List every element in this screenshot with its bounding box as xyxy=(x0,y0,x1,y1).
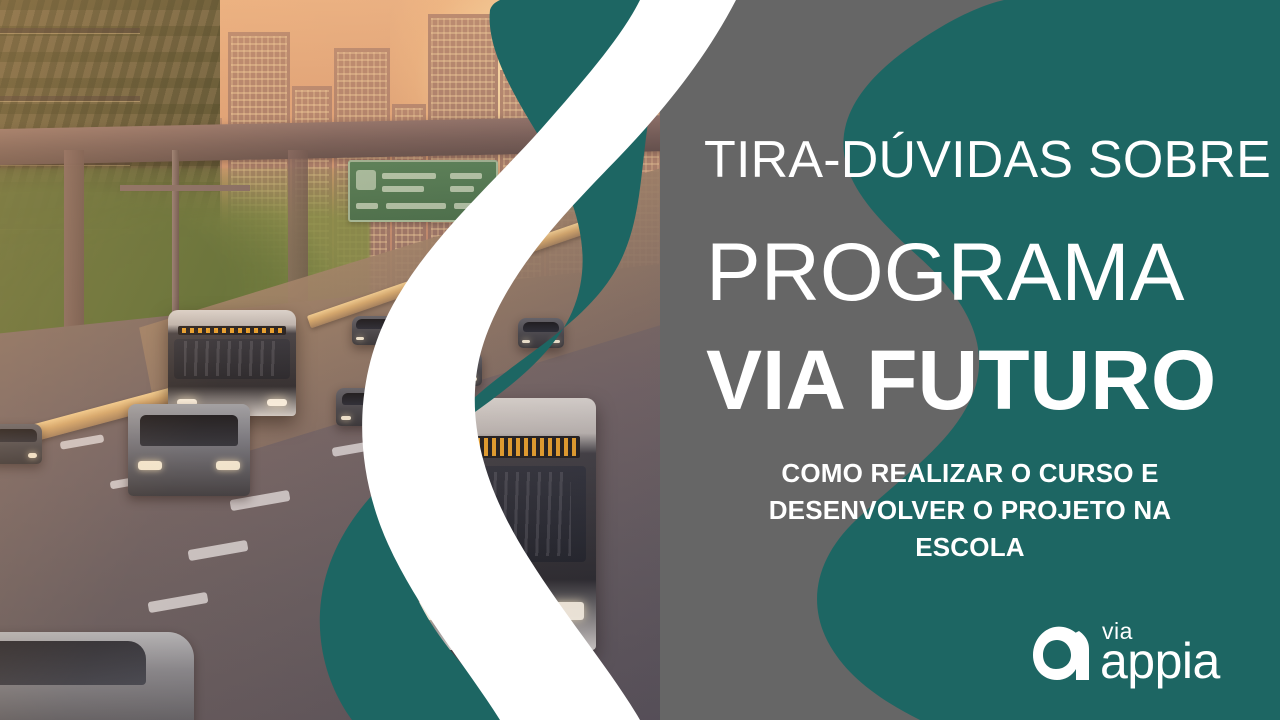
logo-word-appia: appia xyxy=(1100,636,1220,686)
title-line-1: PROGRAMA xyxy=(706,232,1184,314)
via-appia-logo-mark xyxy=(1032,624,1094,682)
presentation-slide: TIRA-DÚVIDAS SOBRE O PROGRAMA VIA FUTURO… xyxy=(0,0,1280,720)
text-block: TIRA-DÚVIDAS SOBRE O PROGRAMA VIA FUTURO… xyxy=(690,0,1250,720)
kicker-text: TIRA-DÚVIDAS SOBRE O xyxy=(704,133,1238,188)
title-line-2: VIA FUTURO xyxy=(706,338,1216,422)
via-appia-logo: via appia xyxy=(1032,622,1228,684)
subtitle-text: COMO REALIZAR O CURSO E DESENVOLVER O PR… xyxy=(720,455,1220,567)
via-appia-wordmark: via appia xyxy=(1100,622,1230,684)
